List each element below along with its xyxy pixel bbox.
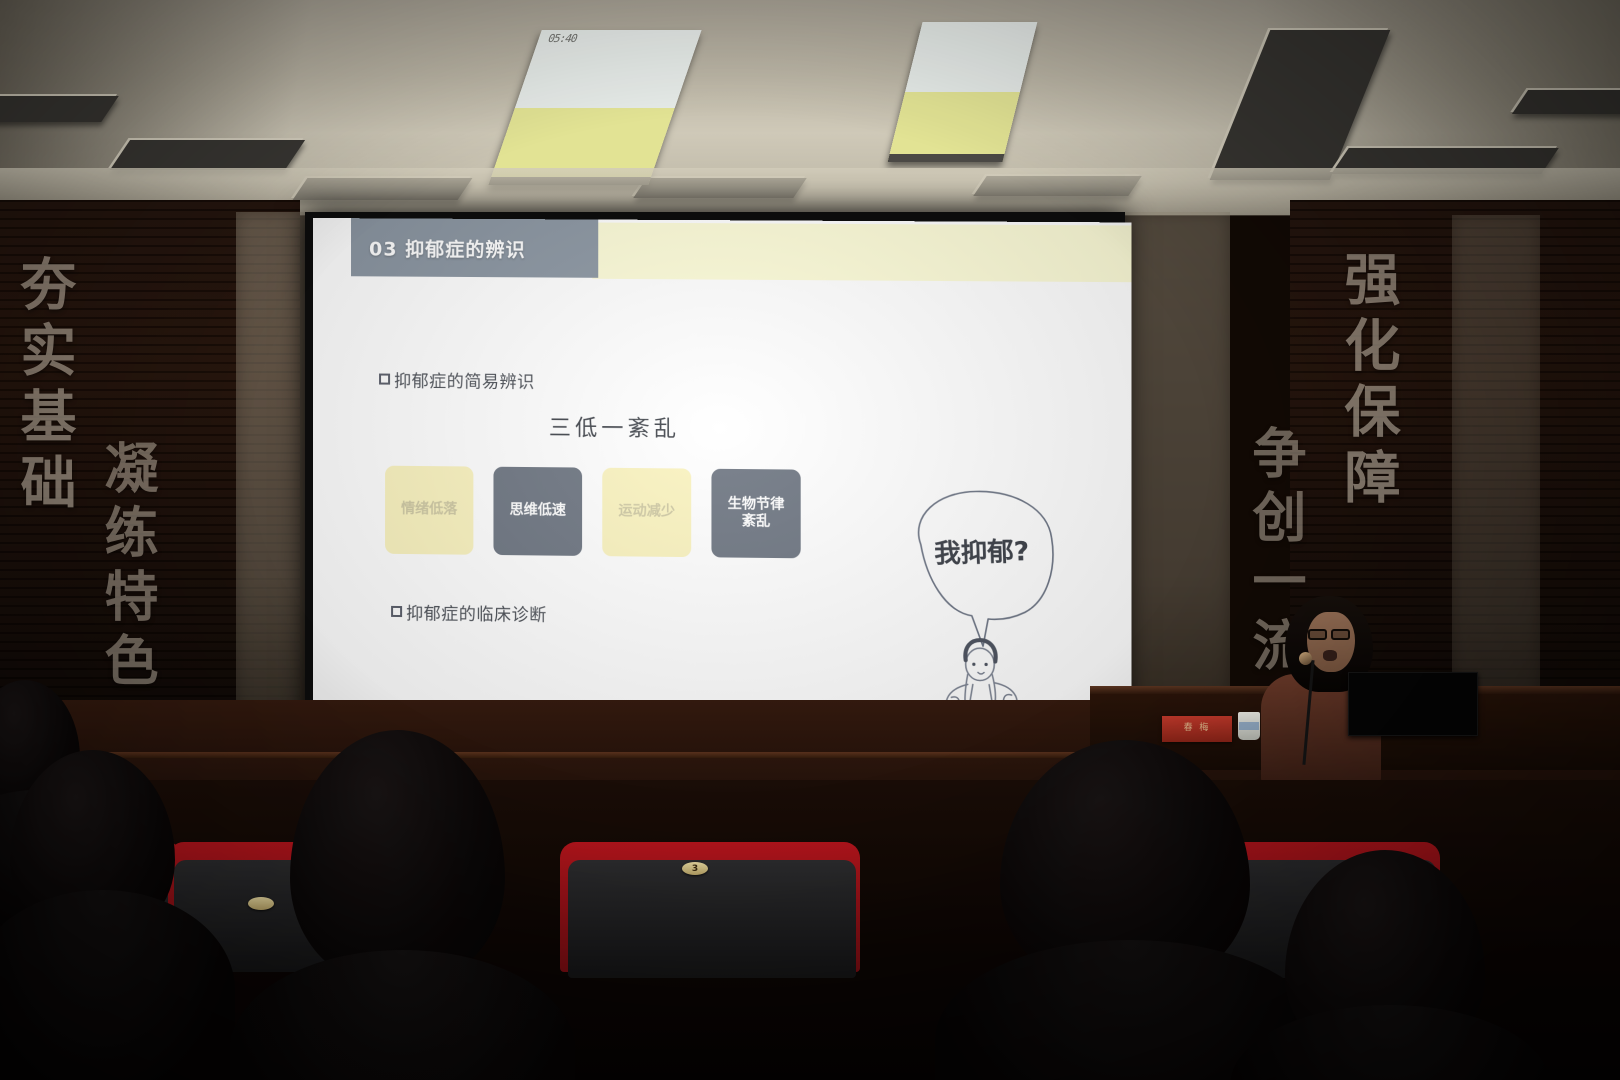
symptom-card-row: 情绪低落 思维低速 运动减少 生物节律 紊乱: [385, 466, 801, 559]
symptom-card-3-label: 运动减少: [618, 503, 675, 521]
wall-calligraphy-left-1: 夯实基础: [16, 255, 72, 519]
wall-calligraphy-left-2: 凝练特色: [100, 440, 154, 696]
symptom-card-4: 生物节律 紊乱: [711, 469, 800, 559]
seat-back-black-3: [568, 860, 856, 978]
projection-screen-frame: 03 抑郁症的辨识 抑郁症的简易辨识 三低一紊乱 情绪低落 思维低: [305, 212, 1125, 737]
symptom-card-4-line1: 生物节律: [728, 496, 785, 513]
wall-calligraphy-right-1: 强化保障: [1340, 250, 1396, 514]
speaker-mouth: [1323, 650, 1337, 661]
seat-number-plate-2: [248, 897, 274, 910]
slide-body: 抑郁症的简易辨识 三低一紊乱 情绪低落 思维低速 运动减少: [313, 280, 1132, 744]
symptom-card-3: 运动减少: [602, 468, 691, 557]
symptom-card-2-label: 思维低速: [510, 502, 566, 520]
ceiling-slot-1: [0, 96, 119, 122]
slide-bullet-2-text: 抑郁症的临床诊断: [406, 599, 547, 626]
slide-bullet-2: 抑郁症的临床诊断: [391, 599, 547, 626]
ceiling: 05:40: [0, 0, 1620, 215]
speaker-glasses-left: [1308, 629, 1327, 640]
lecture-hall-scene: 05:40 夯实基础 凝练特色 强化保障 争创一流 03 抑郁症的辨识: [0, 0, 1620, 1080]
lightbox-yellow-half-2: [888, 92, 1020, 162]
audience-area: 3: [0, 780, 1620, 1080]
stone-panel-right: [1120, 212, 1230, 732]
slide-bullet-1: 抑郁症的简易辨识: [379, 367, 535, 393]
symptom-card-1-label: 情绪低落: [401, 501, 457, 519]
projected-slide: 03 抑郁症的辨识 抑郁症的简易辨识 三低一紊乱 情绪低落 思维低: [313, 218, 1132, 744]
red-box-text: 春 梅: [1162, 720, 1232, 733]
ceiling-slot-2: [110, 140, 305, 170]
lightbox-white-half-2: [905, 22, 1037, 92]
symptom-card-2: 思维低速: [493, 467, 582, 556]
red-box-on-podium: 春 梅: [1162, 716, 1232, 742]
stone-panel-left: [236, 212, 308, 732]
slide-center-heading: 三低一紊乱: [549, 410, 680, 443]
slide-bullet-1-text: 抑郁症的简易辨识: [394, 367, 535, 393]
ceiling-slot-8: [1512, 90, 1620, 114]
lightbox-white-half: [515, 30, 702, 108]
symptom-card-4-label: 生物节律 紊乱: [728, 496, 785, 532]
slide-header-gray-block: 03 抑郁症的辨识: [351, 218, 598, 278]
speech-bubble-text: 我抑郁?: [934, 537, 1030, 570]
symptom-card-4-line2: 紊乱: [742, 513, 770, 529]
slide-title: 03 抑郁症的辨识: [369, 234, 526, 262]
slide-header: 03 抑郁症的辨识: [313, 218, 1132, 285]
seat-number-plate-3: 3: [682, 862, 708, 875]
ceiling-lightbox-left: 05:40: [488, 30, 701, 185]
paper-cup-band: [1239, 722, 1259, 730]
speaker-glasses-right: [1331, 629, 1350, 640]
slide-header-yellow-band: [592, 223, 1131, 283]
lightbox-code-text: 05:40: [546, 32, 579, 45]
laptop-on-podium: [1348, 672, 1478, 736]
bullet-square-icon-1: [379, 374, 390, 385]
bullet-square-icon-2: [391, 606, 402, 617]
ceiling-lightbox-right: [888, 22, 1038, 162]
lightbox-edge-2: [888, 154, 1005, 162]
symptom-card-1: 情绪低落: [385, 466, 473, 555]
